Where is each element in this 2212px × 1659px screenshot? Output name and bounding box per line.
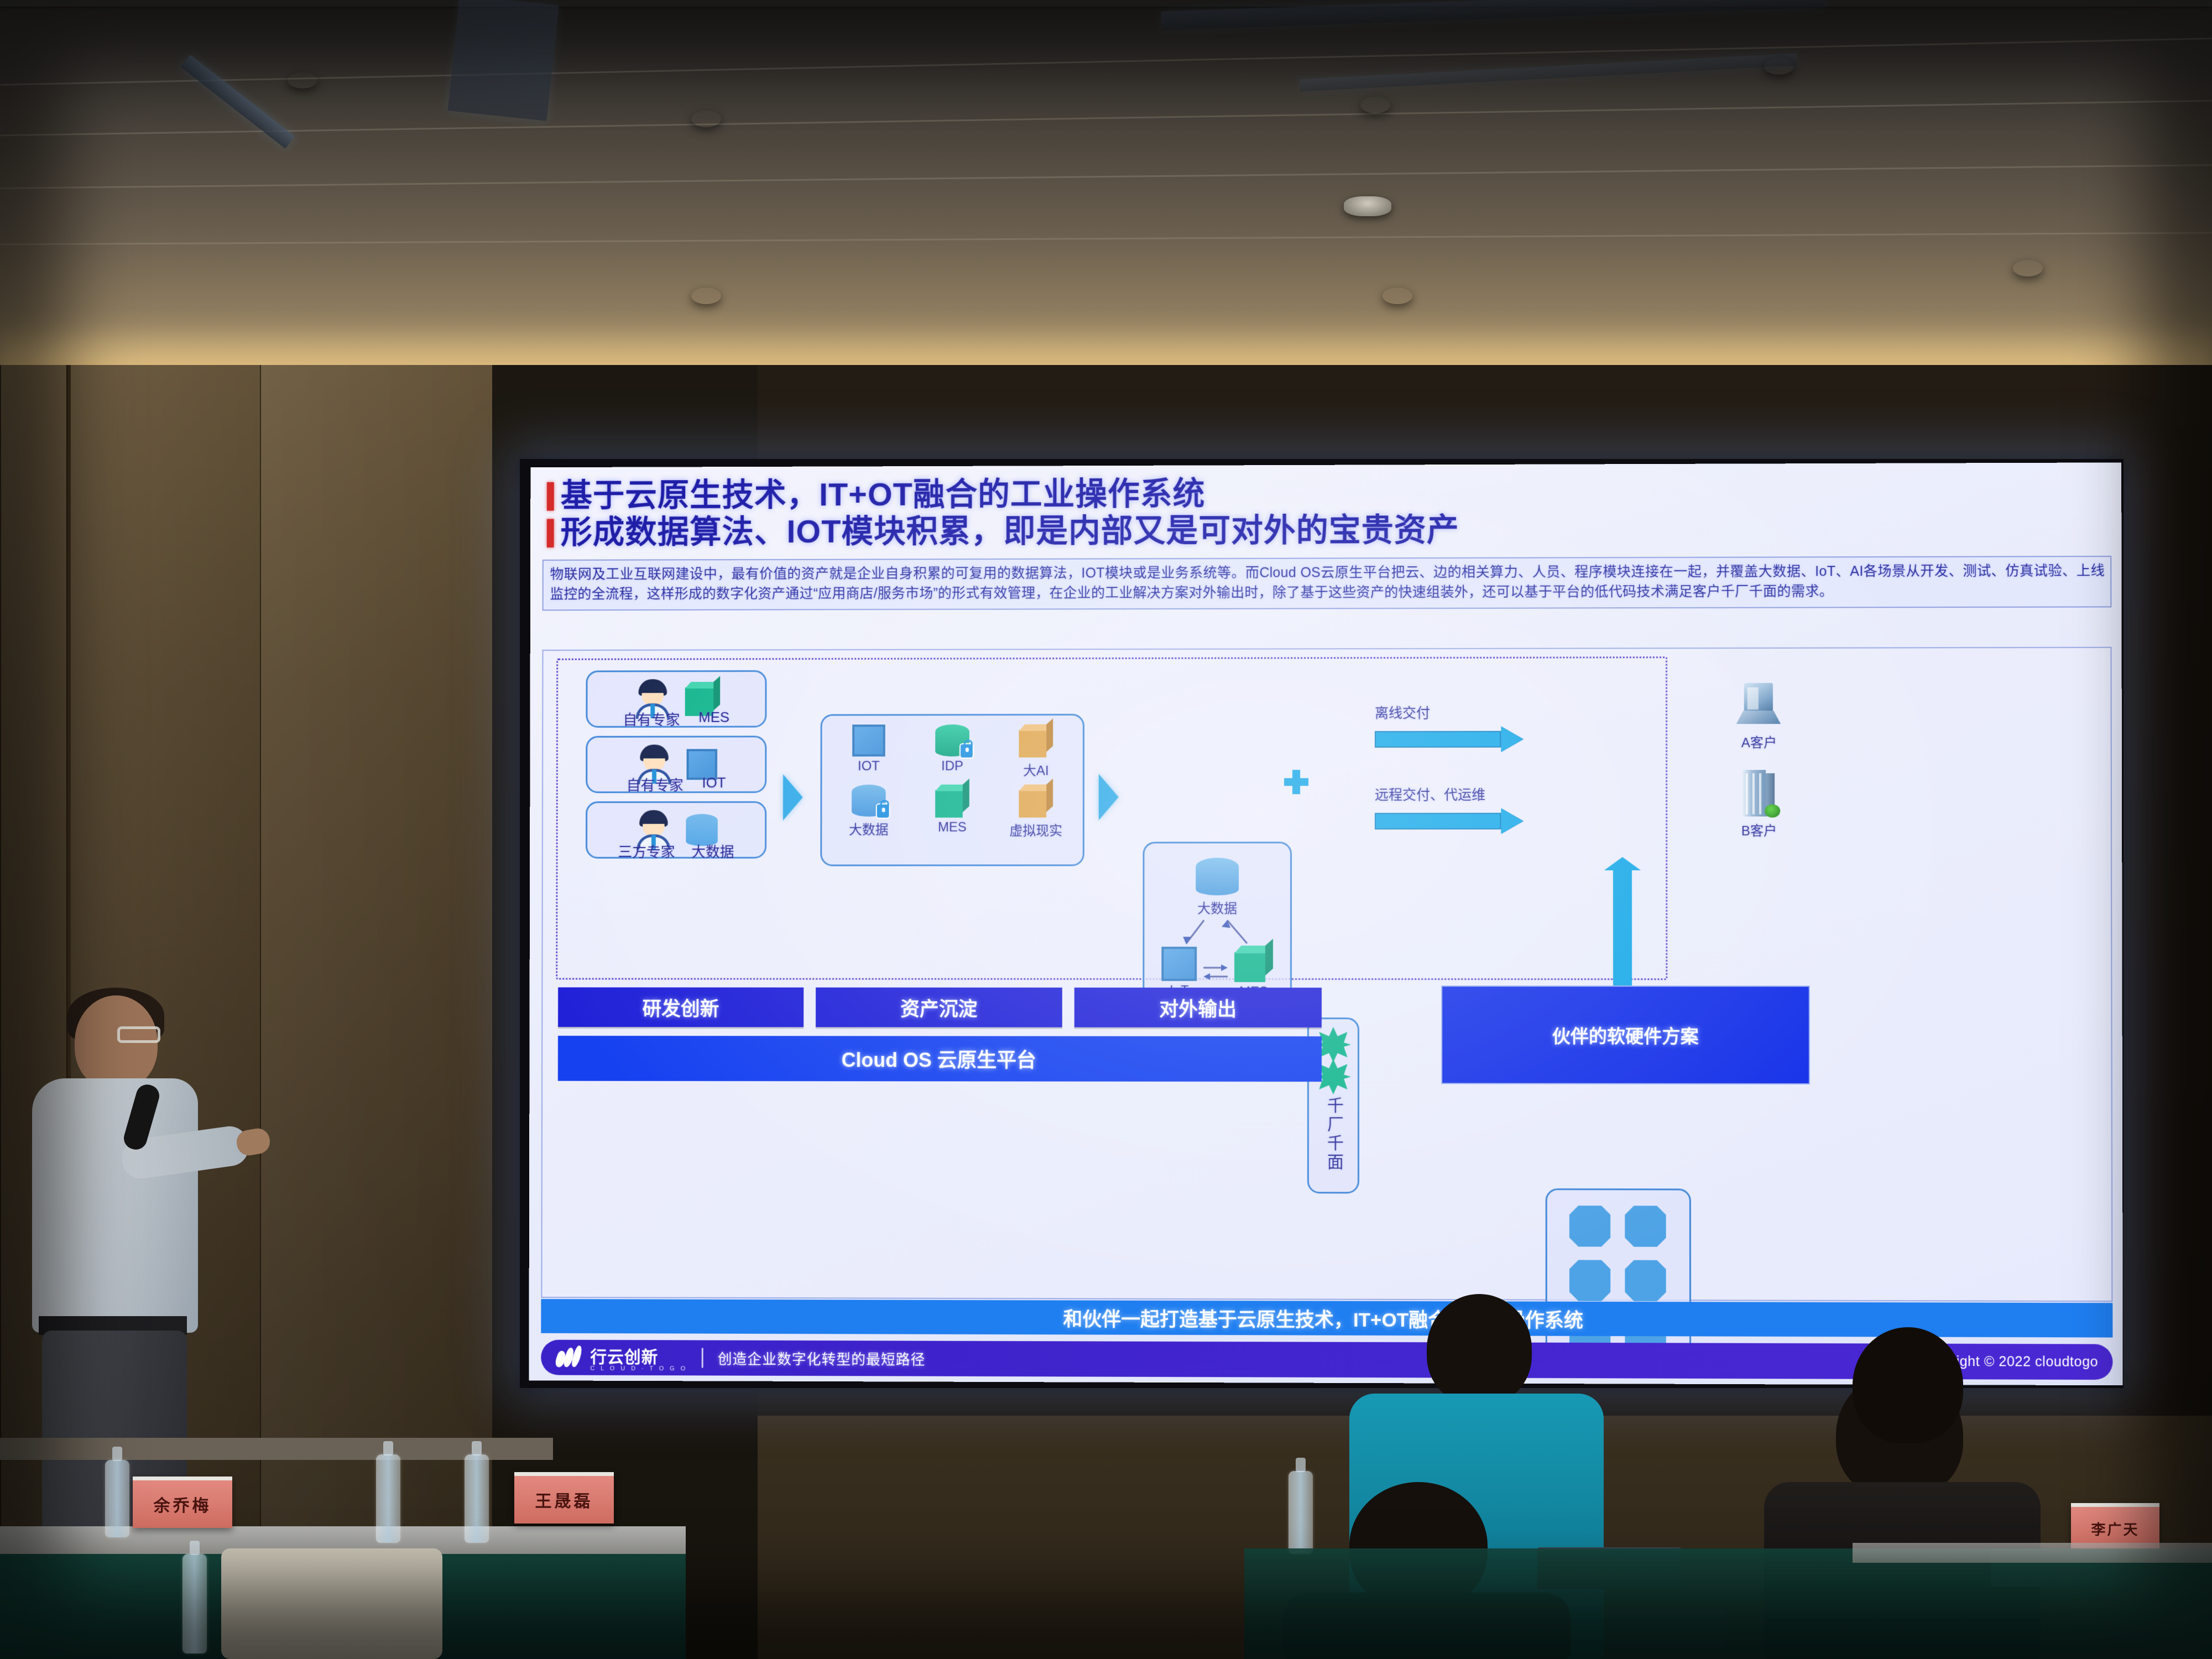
asset-label-1: IDP	[911, 759, 993, 774]
asset-label-3: 大数据	[827, 819, 910, 838]
partner-band: 伙伴的软硬件方案	[1441, 985, 1810, 1084]
asset-bigai-cube-icon	[1019, 724, 1053, 758]
delivery-offline: 离线交付	[1375, 702, 1535, 752]
asset-iot-square-icon	[852, 724, 885, 757]
glasses-icon	[117, 1026, 160, 1043]
projection-screen: 基于云原生技术，IT+OT融合的工业操作系统 形成数据算法、IOT模块积累，即是…	[520, 459, 2124, 1388]
name-placard: 王晟磊	[514, 1472, 614, 1524]
expert-asset-label-1: IOT	[702, 774, 726, 795]
column-assets: IOT IDP	[820, 714, 1084, 867]
bidirectional-arrow-icon	[1200, 960, 1231, 985]
footer-tagline: 创造企业数字化转型的最短路径	[718, 1348, 926, 1369]
stage-band-rd: 研发创新	[558, 987, 804, 1027]
stage-band-asset: 资产沉淀	[816, 988, 1062, 1027]
water-bottle	[465, 1454, 489, 1543]
table-surface	[1853, 1543, 2212, 1563]
asset-bigdata-cylinder-icon	[852, 785, 886, 817]
slide-paragraph: 物联网及工业互联网建设中，最有价值的资产就是企业自身积累的可复用的数据算法，IO…	[550, 561, 2105, 604]
asset-vr-cube-icon	[1019, 785, 1053, 818]
asset-mes-cube-icon	[935, 785, 969, 818]
expert-label-1: 自有专家	[627, 774, 684, 795]
brand-subtitle: C L O U D · T O G O	[590, 1365, 687, 1372]
stage-band-output: 对外输出	[1074, 988, 1322, 1027]
conference-room-photo: 基于云原生技术，IT+OT融合的工业操作系统 形成数据算法、IOT模块积累，即是…	[0, 0, 2212, 1659]
customer-label-1: B客户	[1707, 820, 1812, 839]
title-line-1: 基于云原生技术，IT+OT融合的工业操作系统	[561, 477, 1206, 513]
expert-label-0: 自有专家	[623, 709, 680, 729]
brand-name: 行云创新	[590, 1343, 687, 1368]
lowcode-label: 千厂千面	[1321, 1097, 1345, 1172]
lock-icon	[876, 804, 890, 819]
water-bottle	[182, 1554, 207, 1653]
delivery-remote: 远程交付、代运维	[1375, 784, 1558, 834]
architecture-diagram: 自有专家 MES 自有专家 IOT	[541, 647, 2112, 1302]
slide-content: 基于云原生技术，IT+OT融合的工业操作系统 形成数据算法、IOT模块积累，即是…	[529, 462, 2122, 1385]
module-icon	[1625, 1206, 1666, 1246]
asset-idp-cylinder-icon	[935, 724, 969, 757]
placard-label-1: 王晟磊	[535, 1488, 593, 1512]
module-icon	[1569, 1206, 1610, 1246]
audience-member	[1814, 1327, 2046, 1537]
water-bottle	[376, 1454, 400, 1543]
asset-label-0: IOT	[827, 759, 910, 774]
title-bullet-bar	[547, 482, 554, 511]
expert-asset-label-0: MES	[698, 709, 729, 729]
flow-arrow-icon	[1099, 774, 1119, 820]
flow-arrow-icon	[783, 774, 803, 821]
ceiling	[0, 0, 2212, 387]
stage-band-label-0: 研发创新	[643, 993, 719, 1021]
slide-paragraph-box: 物联网及工业互联网建设中，最有价值的资产就是企业自身积累的可复用的数据算法，IO…	[542, 556, 2112, 611]
name-placard: 余乔梅	[133, 1477, 232, 1528]
title-line-2: 形成数据算法、IOT模块积累，即是内部又是可对外的宝贵资产	[560, 514, 1459, 550]
water-bottle	[105, 1460, 129, 1537]
brand-logo-icon	[555, 1345, 585, 1370]
audience-head	[1427, 1294, 1532, 1405]
customer-label-0: A客户	[1706, 732, 1812, 751]
platform-band-label: Cloud OS 云原生平台	[842, 1044, 1036, 1073]
asset-label-4: MES	[911, 820, 993, 835]
placard-label-0: 余乔梅	[154, 1492, 212, 1516]
lock-icon	[959, 743, 974, 759]
solution-top-label: 大数据	[1144, 898, 1290, 917]
expert-asset-label-2: 大数据	[691, 841, 734, 862]
audience-head	[1853, 1327, 1963, 1443]
table-cloth	[1244, 1548, 2212, 1659]
stage-band-label-1: 资产沉淀	[900, 993, 977, 1021]
platform-band: Cloud OS 云原生平台	[558, 1036, 1322, 1082]
slide-title: 基于云原生技术，IT+OT融合的工业操作系统 形成数据算法、IOT模块积累，即是…	[547, 475, 2108, 550]
stage-band-label-2: 对外输出	[1159, 993, 1237, 1021]
solution-bigdata-cylinder-icon	[1196, 858, 1239, 895]
solution-mes-cube-icon	[1234, 946, 1273, 982]
upward-arrow-icon	[1613, 869, 1632, 985]
partner-band-label: 伙伴的软硬件方案	[1552, 1021, 1699, 1048]
title-bullet-bar-2	[547, 519, 554, 548]
ceiling-speaker-icon	[1344, 196, 1391, 216]
expert-label-2: 三方专家	[618, 841, 675, 862]
delivery-label-1: 远程交付、代运维	[1375, 784, 1557, 804]
asset-label-2: 大AI	[995, 760, 1077, 779]
module-icon	[1625, 1260, 1666, 1301]
footer-divider	[702, 1348, 703, 1368]
asset-label-5: 虚拟现实	[995, 820, 1077, 839]
server-icon	[1735, 683, 1783, 729]
column-experts: 自有专家 MES 自有专家 IOT	[586, 670, 767, 862]
customer-list: A客户 B客户	[1706, 683, 1812, 839]
solution-iot-square-icon	[1161, 947, 1197, 981]
presenter-shirt	[32, 1078, 198, 1333]
placard-label-2: 李广天	[2091, 1519, 2139, 1539]
building-icon	[1740, 770, 1778, 817]
chair-back	[221, 1548, 442, 1659]
delivery-label-0: 离线交付	[1375, 702, 1535, 722]
